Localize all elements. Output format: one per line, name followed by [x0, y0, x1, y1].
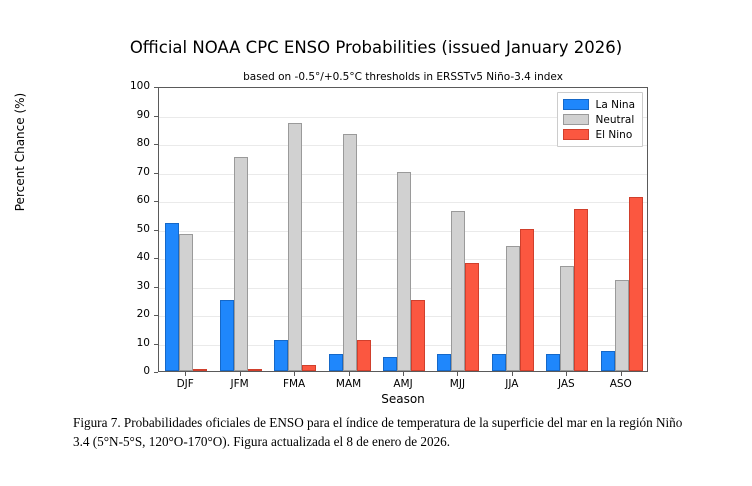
figure-caption: Figura 7. Probabilidades oficiales de EN… — [73, 413, 683, 451]
chart-legend: La NinaNeutralEl Nino — [557, 92, 643, 147]
bar-aso-el-nino — [629, 197, 643, 371]
x-axis-tick-label: MAM — [319, 378, 379, 390]
bar-mjj-la-nina — [437, 354, 451, 371]
bar-amj-el-nino — [411, 300, 425, 371]
y-axis-tick-mark — [154, 230, 158, 231]
bar-mam-el-nino — [357, 340, 371, 371]
y-axis-label: Percent Chance (%) — [13, 22, 27, 282]
y-axis-tick-mark — [154, 258, 158, 259]
y-axis-tick-label: 40 — [112, 251, 150, 263]
x-axis-tick-label: AMJ — [373, 378, 433, 390]
x-axis-tick-label: JFM — [210, 378, 270, 390]
y-axis-tick-label: 90 — [112, 109, 150, 121]
x-axis-tick-label: ASO — [591, 378, 651, 390]
bar-mjj-el-nino — [465, 263, 479, 371]
y-axis-tick-mark — [154, 87, 158, 88]
legend-item-el-nino: El Nino — [563, 127, 635, 142]
y-axis-tick-mark — [154, 372, 158, 373]
x-axis-tick-label: MJJ — [427, 378, 487, 390]
y-axis-tick-mark — [154, 315, 158, 316]
bar-djf-neutral — [179, 234, 193, 371]
bar-djf-el-nino — [193, 369, 207, 371]
chart-title: Official NOAA CPC ENSO Probabilities (is… — [0, 38, 752, 57]
bar-aso-la-nina — [601, 351, 615, 371]
legend-label: El Nino — [596, 129, 633, 141]
x-axis-tick-label: FMA — [264, 378, 324, 390]
y-axis-tick-label: 70 — [112, 166, 150, 178]
bar-fma-el-nino — [302, 365, 316, 371]
y-axis-tick-label: 80 — [112, 137, 150, 149]
y-axis-tick-mark — [154, 344, 158, 345]
legend-swatch-el-nino — [563, 129, 589, 140]
y-axis-tick-label: 30 — [112, 280, 150, 292]
bar-djf-la-nina — [165, 223, 179, 371]
y-axis-tick-label: 50 — [112, 223, 150, 235]
legend-label: La Nina — [596, 99, 635, 111]
legend-swatch-neutral — [563, 114, 589, 125]
bar-jja-la-nina — [492, 354, 506, 371]
x-axis-tick-mark — [294, 372, 295, 376]
x-axis-tick-mark — [621, 372, 622, 376]
bar-mam-la-nina — [329, 354, 343, 371]
x-axis-tick-label: JJA — [482, 378, 542, 390]
bar-jas-la-nina — [546, 354, 560, 371]
x-axis-tick-mark — [566, 372, 567, 376]
x-axis-tick-label: DJF — [155, 378, 215, 390]
plot-area: La NinaNeutralEl Nino — [158, 87, 648, 372]
chart-subtitle: based on -0.5°/+0.5°C thresholds in ERSS… — [158, 71, 648, 83]
bar-jfm-el-nino — [248, 369, 262, 371]
y-axis-tick-label: 0 — [112, 365, 150, 377]
bar-jja-neutral — [506, 246, 520, 371]
bar-fma-la-nina — [274, 340, 288, 371]
y-axis-tick-mark — [154, 201, 158, 202]
x-axis-tick-mark — [512, 372, 513, 376]
bar-jas-neutral — [560, 266, 574, 371]
y-axis-tick-mark — [154, 116, 158, 117]
bar-mjj-neutral — [451, 211, 465, 371]
x-axis-label: Season — [158, 392, 648, 406]
y-axis-tick-label: 100 — [112, 80, 150, 92]
legend-item-la-nina: La Nina — [563, 97, 635, 112]
bar-jas-el-nino — [574, 209, 588, 371]
bar-amj-neutral — [397, 172, 411, 372]
x-axis-tick-mark — [240, 372, 241, 376]
legend-swatch-la-nina — [563, 99, 589, 110]
legend-label: Neutral — [596, 114, 635, 126]
y-axis-tick-mark — [154, 173, 158, 174]
y-axis-tick-mark — [154, 287, 158, 288]
x-axis-tick-mark — [349, 372, 350, 376]
y-axis-tick-label: 60 — [112, 194, 150, 206]
x-axis-tick-mark — [185, 372, 186, 376]
x-axis-tick-mark — [457, 372, 458, 376]
bar-jfm-la-nina — [220, 300, 234, 371]
x-axis-tick-label: JAS — [536, 378, 596, 390]
enso-probabilities-figure: Official NOAA CPC ENSO Probabilities (is… — [0, 0, 752, 410]
y-axis-tick-label: 10 — [112, 337, 150, 349]
y-axis-tick-mark — [154, 144, 158, 145]
bar-amj-la-nina — [383, 357, 397, 371]
bar-jja-el-nino — [520, 229, 534, 372]
y-axis-tick-label: 20 — [112, 308, 150, 320]
bar-fma-neutral — [288, 123, 302, 371]
legend-item-neutral: Neutral — [563, 112, 635, 127]
bar-mam-neutral — [343, 134, 357, 371]
bar-aso-neutral — [615, 280, 629, 371]
x-axis-tick-mark — [403, 372, 404, 376]
bar-jfm-neutral — [234, 157, 248, 371]
